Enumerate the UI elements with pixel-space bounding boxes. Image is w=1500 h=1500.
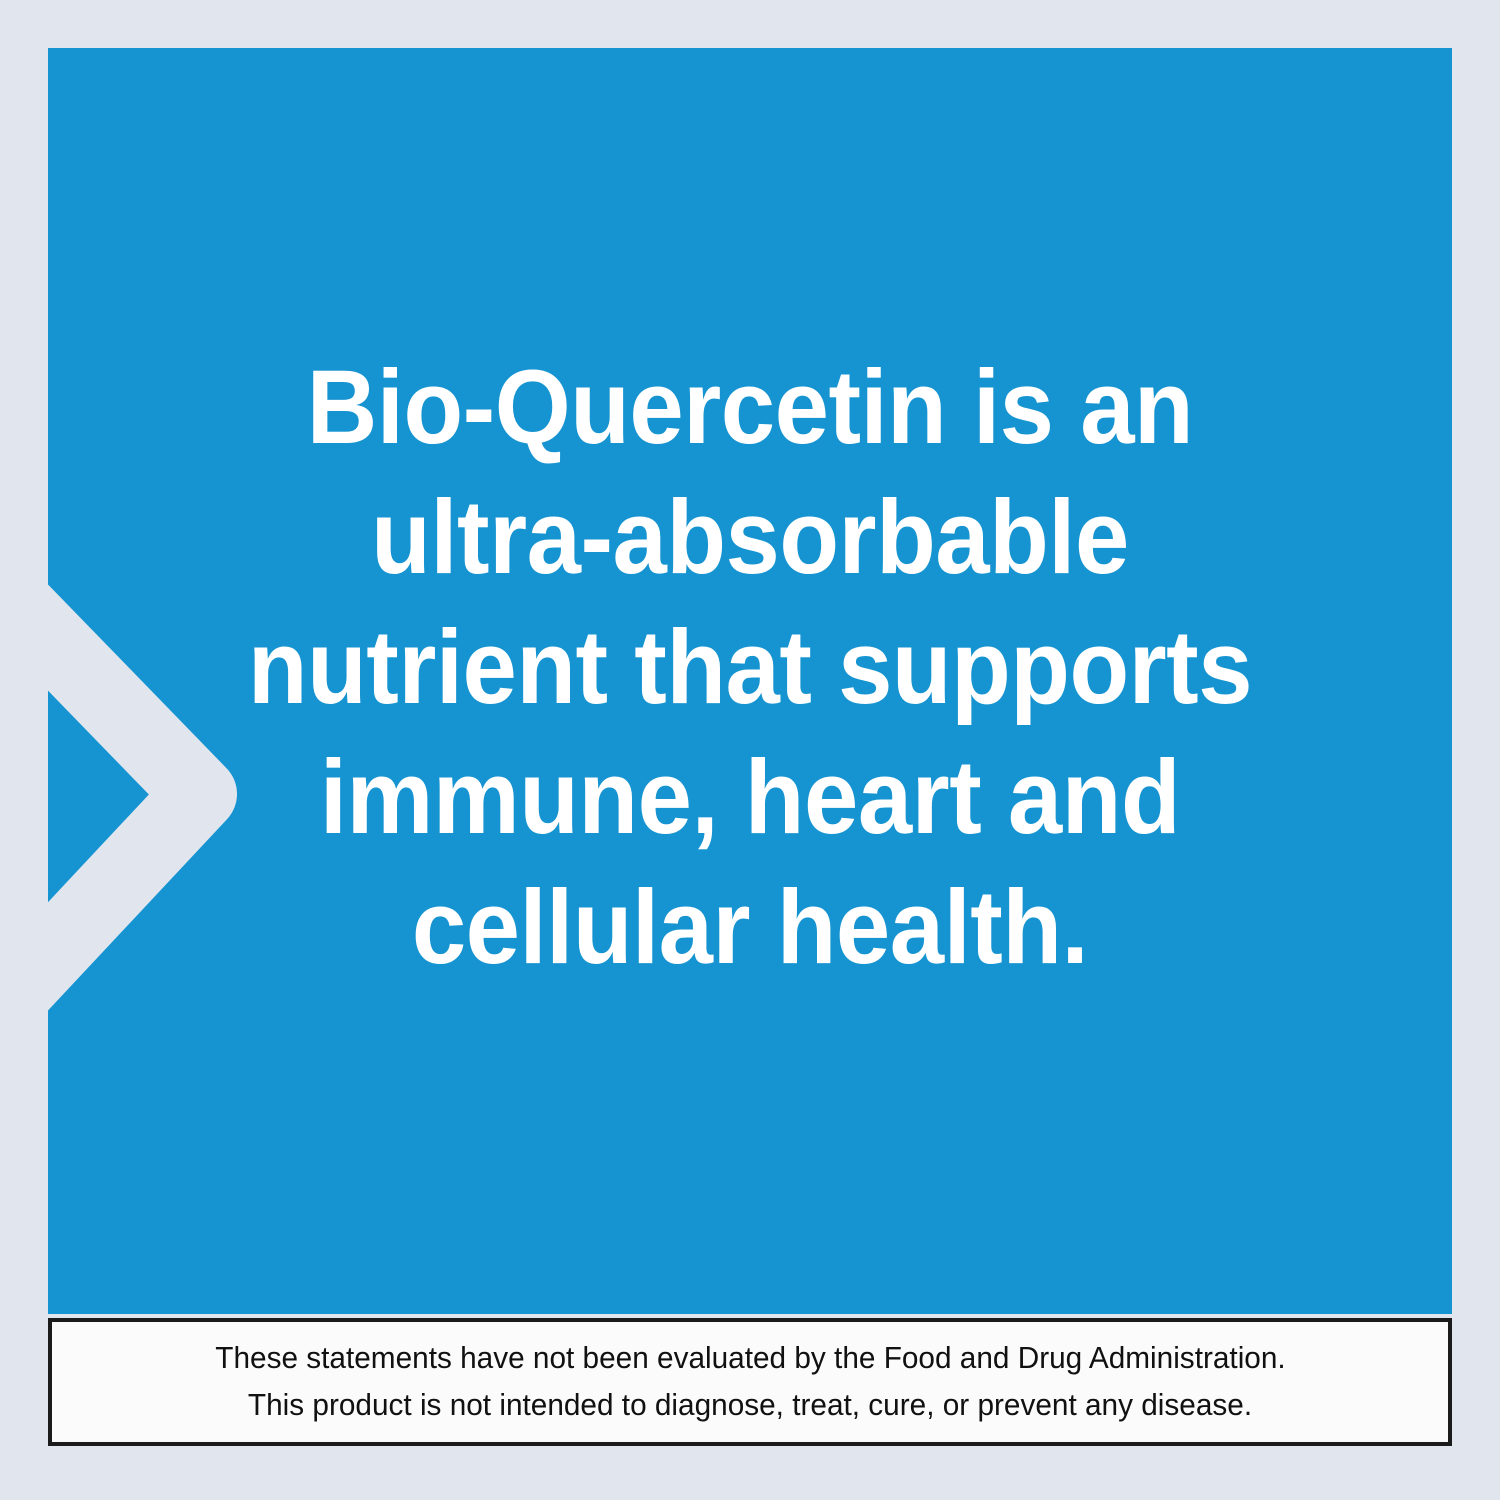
fda-disclaimer-box: These statements have not been evaluated… (48, 1318, 1452, 1446)
product-info-card: Bio-Quercetin is an ultra-absorbable nut… (0, 0, 1500, 1500)
disclaimer-line-1: These statements have not been evaluated… (215, 1340, 1285, 1377)
chevron-right-icon (48, 568, 228, 1028)
hero-panel (48, 48, 1452, 1314)
disclaimer-line-2: This product is not intended to diagnose… (248, 1387, 1252, 1424)
